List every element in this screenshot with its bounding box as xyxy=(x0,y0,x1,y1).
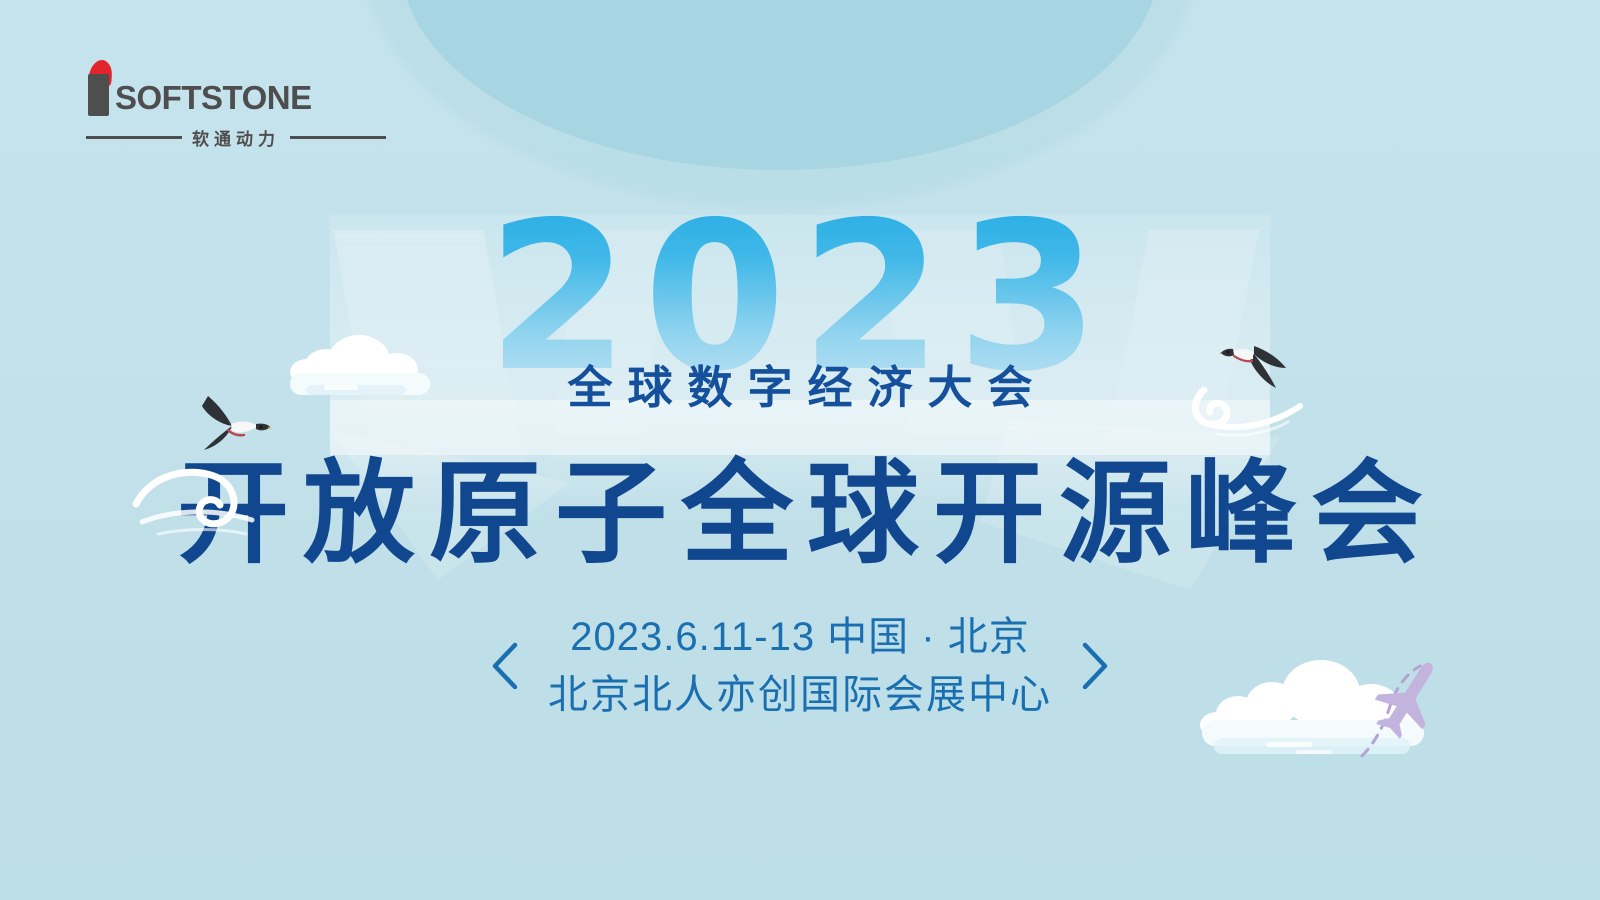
event-venue: 北京北人亦创国际会展中心 xyxy=(548,666,1052,724)
isoftstone-logo[interactable]: SoftStone 软通动力 xyxy=(86,58,386,150)
event-date-location: 2023.6.11-13 中国 · 北京 xyxy=(548,608,1052,666)
logo-i-mark-icon xyxy=(86,60,112,116)
logo-i-stem xyxy=(88,74,109,116)
dome-arc-shape xyxy=(400,0,1160,170)
event-info-text: 2023.6.11-13 中国 · 北京 北京北人亦创国际会展中心 xyxy=(548,608,1052,724)
conference-headline: 开放原子全球开源峰会 xyxy=(0,452,1600,576)
logo-rule-left xyxy=(86,136,182,139)
logo-wordmark-row: SoftStone xyxy=(86,58,386,116)
logo-rule-right xyxy=(290,136,386,139)
event-info-block: 2023.6.11-13 中国 · 北京 北京北人亦创国际会展中心 xyxy=(0,608,1600,724)
conference-subtitle: 全球数字经济大会 xyxy=(0,362,1600,414)
logo-wordmark: SoftStone xyxy=(115,70,312,116)
right-chevron-icon xyxy=(1078,637,1112,695)
logo-chinese-row: 软通动力 xyxy=(86,125,386,150)
conference-poster: SoftStone 软通动力 2023 全球数字经济大会 开放原子全球开源峰会 … xyxy=(0,0,1600,900)
logo-chinese-name: 软通动力 xyxy=(190,125,282,150)
left-chevron-icon xyxy=(488,637,522,695)
